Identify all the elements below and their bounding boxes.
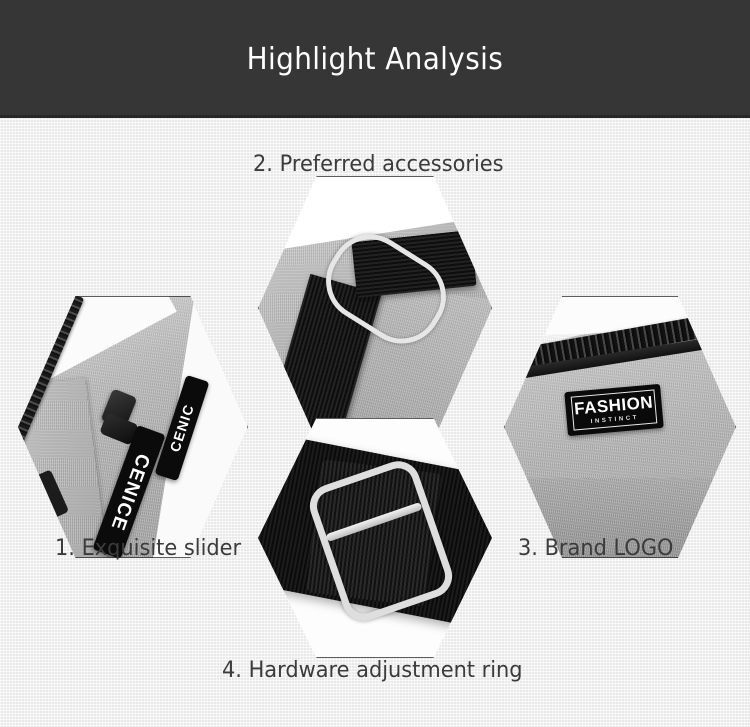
photo-hardware-adjustment-ring: [258, 418, 492, 658]
caption-exquisite-slider: 1. Exquisite slider: [55, 536, 241, 561]
product-highlight-infographic: Highlight Analysis: [0, 0, 750, 727]
caption-preferred-accessories: 2. Preferred accessories: [253, 152, 504, 177]
photo-brand-logo: FASHION INSTINCT: [504, 296, 736, 558]
hex-panel-slider[interactable]: CENICE CENIC: [18, 296, 248, 558]
caption-brand-logo: 3. Brand LOGO: [518, 536, 673, 561]
photo-background: FASHION INSTINCT: [504, 296, 736, 558]
caption-hardware-adjustment-ring: 4. Hardware adjustment ring: [222, 658, 523, 683]
photo-background: [258, 176, 492, 440]
hex-panel-accessories[interactable]: [258, 176, 492, 440]
hex-panel-adjustment-ring[interactable]: [258, 418, 492, 658]
page-title: Highlight Analysis: [247, 42, 503, 77]
header-bar: Highlight Analysis: [0, 0, 750, 118]
photo-exquisite-slider: CENICE CENIC: [18, 296, 248, 558]
brand-logo-patch: FASHION INSTINCT: [564, 384, 663, 436]
hex-panel-logo[interactable]: FASHION INSTINCT: [504, 296, 736, 558]
photo-background: CENICE CENIC: [18, 296, 248, 558]
photo-preferred-accessories: [258, 176, 492, 440]
photo-background: [258, 418, 492, 658]
